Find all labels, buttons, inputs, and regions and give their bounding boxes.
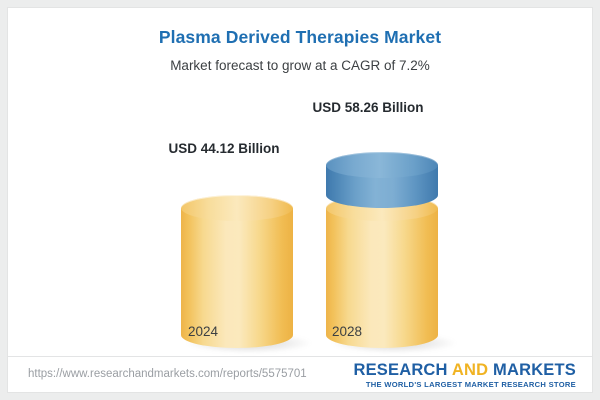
report-url[interactable]: https://www.researchandmarkets.com/repor… [28, 368, 307, 380]
bar-category-label-2024: 2024 [123, 324, 283, 339]
segment-top-ellipse [326, 152, 438, 178]
segment-top-ellipse [181, 195, 293, 221]
brand-word-research: RESEARCH [353, 361, 447, 379]
brand-name: RESEARCH AND MARKETS [353, 361, 576, 380]
plot-area: USD 44.12 Billion 2024 USD 58.26 Billion [8, 8, 592, 348]
chart-card: Plasma Derived Therapies Market Market f… [8, 8, 592, 392]
brand-logo[interactable]: RESEARCH AND MARKETS THE WORLD'S LARGEST… [353, 361, 576, 390]
brand-word-and: AND [452, 361, 488, 379]
footer-divider [8, 356, 592, 357]
brand-word-markets: MARKETS [493, 361, 576, 379]
bar-cylinder-2028 [326, 165, 438, 348]
bar-value-label-2024: USD 44.12 Billion [114, 141, 334, 156]
chart-screenshot: Plasma Derived Therapies Market Market f… [0, 0, 600, 400]
bar-value-label-2028: USD 58.26 Billion [258, 100, 478, 115]
bar-category-label-2028: 2028 [267, 324, 427, 339]
bar-segment-growth-2028 [326, 165, 438, 208]
brand-tagline: THE WORLD'S LARGEST MARKET RESEARCH STOR… [353, 380, 576, 390]
